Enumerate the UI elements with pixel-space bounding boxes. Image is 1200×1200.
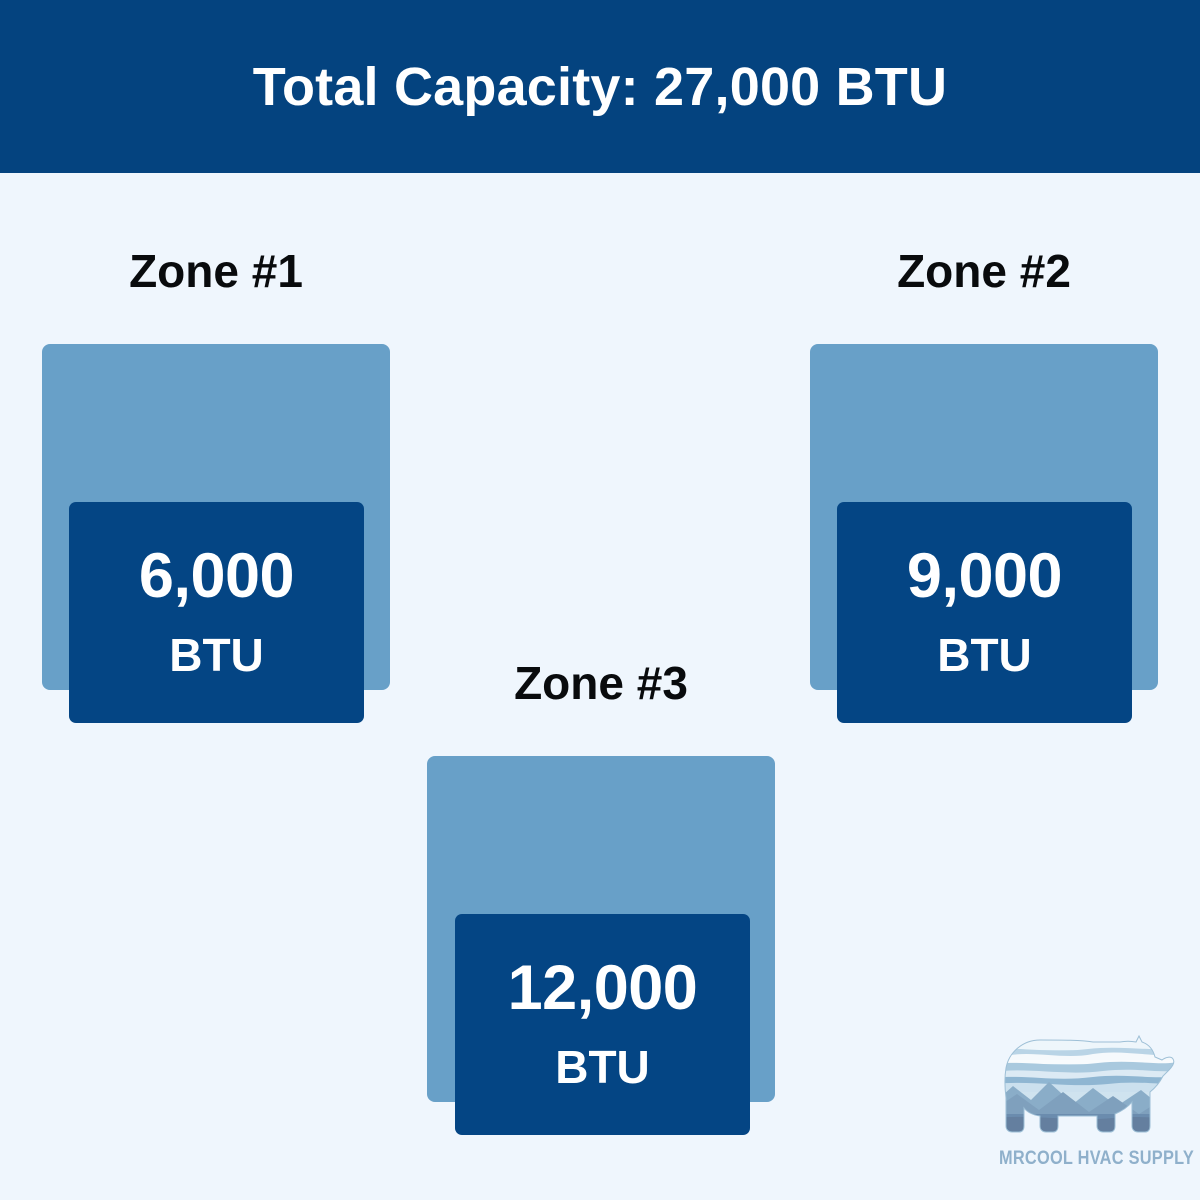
zone-card-3: Zone #3 12,000 BTU [427,660,775,1102]
zone-outer-square-2: 9,000 BTU [810,344,1158,690]
zone-card-1: Zone #1 6,000 BTU [42,248,390,690]
zone-outer-square-3: 12,000 BTU [427,756,775,1102]
brand-name: MRCOOL HVAC SUPPLY [999,1148,1171,1170]
zone-inner-card-3: 12,000 BTU [455,914,750,1135]
zone-label-2: Zone #2 [810,248,1158,294]
zone-label-1: Zone #1 [42,248,390,294]
zone-value-2: 9,000 [907,543,1062,609]
zone-value-1: 6,000 [139,543,294,609]
zone-label-3: Zone #3 [427,660,775,706]
zone-inner-card-2: 9,000 BTU [837,502,1132,723]
zone-inner-card-1: 6,000 BTU [69,502,364,723]
zone-value-3: 12,000 [508,955,698,1021]
zone-outer-square-1: 6,000 BTU [42,344,390,690]
zone-card-2: Zone #2 9,000 BTU [810,248,1158,690]
zone-unit-2: BTU [937,632,1032,678]
brand-logo: MRCOOL HVAC SUPPLY [985,1030,1185,1188]
capacity-infographic: Total Capacity: 27,000 BTU Zone #1 6,000… [0,0,1200,1200]
zone-unit-3: BTU [555,1044,650,1090]
zone-unit-1: BTU [169,632,264,678]
page-title: Total Capacity: 27,000 BTU [253,60,947,114]
header-band: Total Capacity: 27,000 BTU [0,0,1200,173]
polar-bear-icon [993,1030,1178,1148]
